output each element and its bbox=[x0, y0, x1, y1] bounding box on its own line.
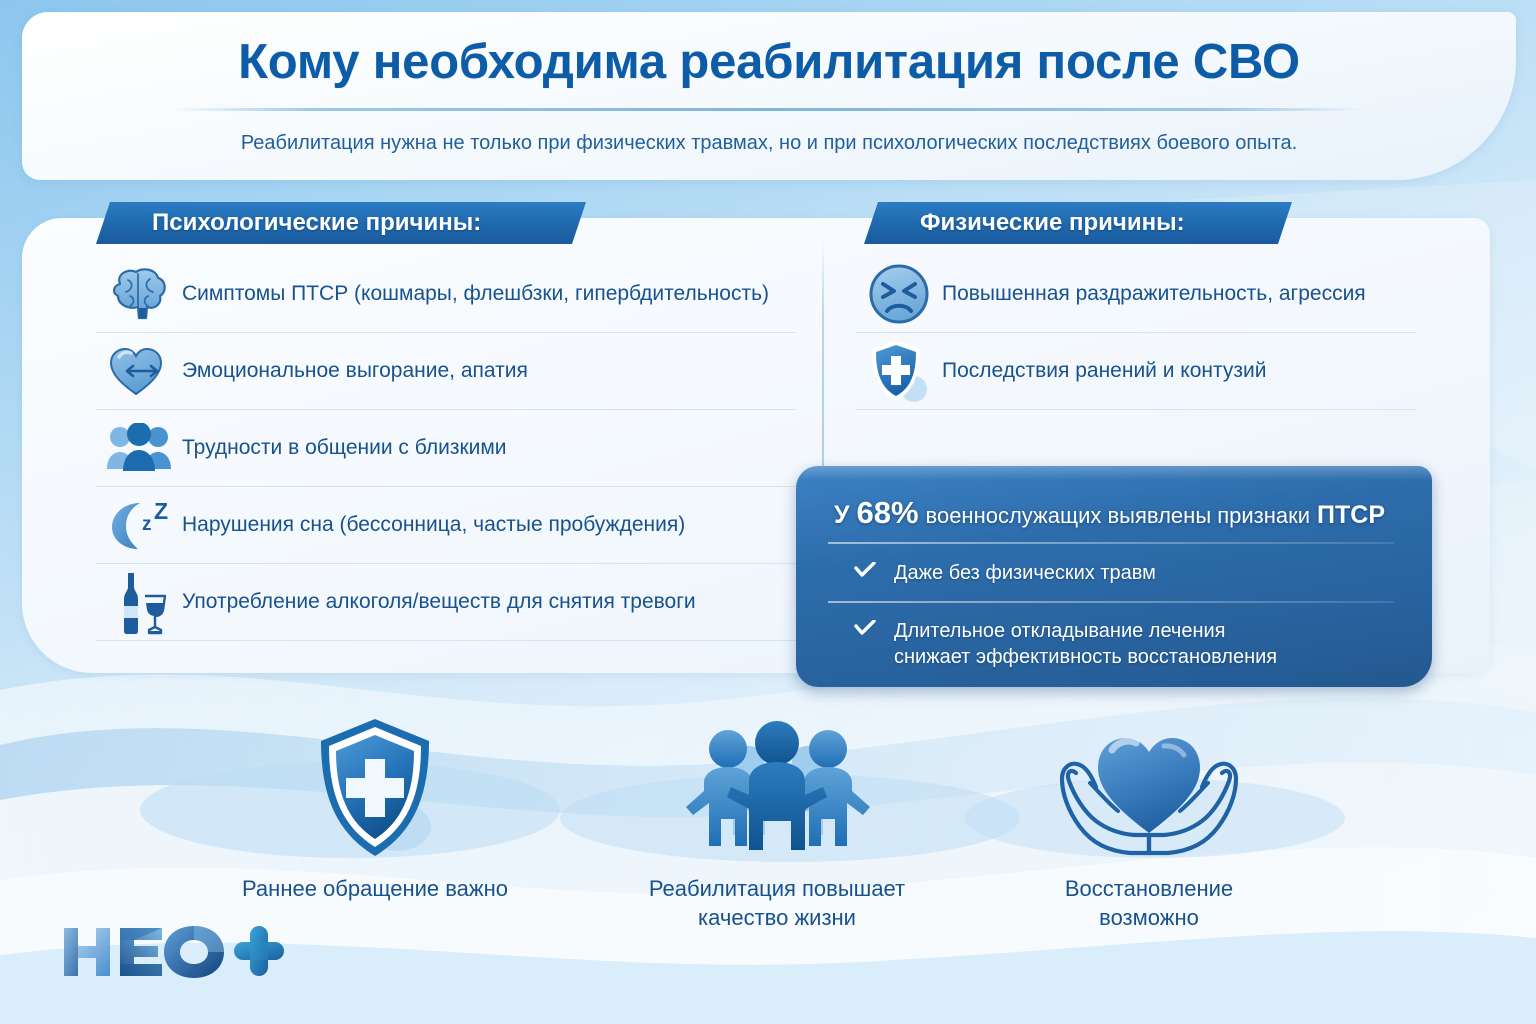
list-item-label: Трудности в общении с близкими bbox=[182, 436, 507, 460]
infographic-poster: Кому необходима реабилитация после СВО Р… bbox=[0, 0, 1536, 1024]
brain-icon bbox=[96, 266, 182, 322]
statistic-bullet-label: Даже без физических травм bbox=[894, 560, 1156, 586]
feature-block: Реабилитация повышает качество жизни bbox=[590, 715, 964, 933]
statistic-prefix: У bbox=[834, 501, 850, 529]
list-item: Последствия ранений и контузий bbox=[856, 333, 1416, 410]
list-item: Употребление алкоголя/веществ для снятия… bbox=[96, 564, 796, 641]
list-item: z Z Нарушения сна (бессонница, частые пр… bbox=[96, 487, 796, 564]
header-card: Кому необходима реабилитация после СВО Р… bbox=[22, 12, 1516, 180]
bottle-glass-icon bbox=[96, 569, 182, 635]
feature-caption: Раннее обращение важно bbox=[188, 874, 562, 903]
shield-cross-large-icon bbox=[188, 715, 562, 860]
list-item: Трудности в общении с близкими bbox=[96, 410, 796, 487]
list-item-label: Симптомы ПТСР (кошмары, флешбзки, гиперб… bbox=[182, 282, 769, 306]
statistic-bullet-label: Длительное откладывание лечения снижает … bbox=[894, 618, 1277, 671]
statistic-card: У 68% военнослужащих выявлены признаки П… bbox=[796, 466, 1432, 687]
section-banner-physical: Физические причины: bbox=[864, 202, 1292, 244]
hands-heart-icon bbox=[962, 715, 1336, 860]
list-item: Эмоциональное выгорание, апатия bbox=[96, 333, 796, 410]
statistic-divider-2 bbox=[828, 601, 1394, 603]
statistic-headline: У 68% военнослужащих выявлены признаки П… bbox=[834, 495, 1408, 531]
people-team-icon bbox=[590, 715, 964, 860]
moon-sleep-icon: z Z bbox=[96, 497, 182, 553]
statistic-divider-1 bbox=[828, 542, 1394, 544]
feature-caption: Реабилитация повышает качество жизни bbox=[590, 874, 964, 933]
list-item-label: Повышенная раздражительность, агрессия bbox=[942, 282, 1366, 306]
physical-causes-list: Повышенная раздражительность, агрессия П… bbox=[856, 256, 1416, 410]
feature-block: Восстановление возможно bbox=[962, 715, 1336, 933]
svg-text:Z: Z bbox=[154, 498, 168, 524]
people-group-icon bbox=[96, 423, 182, 473]
statistic-headline-tail: ПТСР bbox=[1317, 501, 1385, 529]
section-banner-physical-label: Физические причины: bbox=[864, 209, 1185, 237]
check-icon bbox=[854, 561, 876, 584]
statistic-percent: 68% bbox=[857, 495, 919, 530]
statistic-bullet: Даже без физических травм bbox=[854, 560, 1406, 586]
list-item-label: Нарушения сна (бессонница, частые пробуж… bbox=[182, 513, 685, 537]
list-item-label: Последствия ранений и контузий bbox=[942, 359, 1266, 383]
section-banner-psychological: Психологические причины: bbox=[96, 202, 586, 244]
list-item-label: Употребление алкоголя/веществ для снятия… bbox=[182, 590, 696, 614]
list-item: Симптомы ПТСР (кошмары, флешбзки, гиперб… bbox=[96, 256, 796, 333]
heart-burnout-icon bbox=[96, 344, 182, 398]
logo-neo-plus-icon bbox=[58, 920, 288, 982]
list-item-label: Эмоциональное выгорание, апатия bbox=[182, 359, 528, 383]
psychological-causes-list: Симптомы ПТСР (кошмары, флешбзки, гиперб… bbox=[96, 256, 796, 641]
svg-text:z: z bbox=[142, 514, 152, 535]
statistic-bullet: Длительное откладывание лечения снижает … bbox=[854, 618, 1406, 671]
shield-cross-icon bbox=[856, 337, 942, 405]
brand-logo bbox=[58, 920, 288, 982]
page-title: Кому необходима реабилитация после СВО bbox=[22, 34, 1516, 90]
title-divider bbox=[172, 108, 1366, 111]
feature-caption: Восстановление возможно bbox=[962, 874, 1336, 933]
statistic-headline-rest: военнослужащих выявлены признаки bbox=[926, 503, 1311, 528]
check-icon bbox=[854, 619, 876, 642]
list-item: Повышенная раздражительность, агрессия bbox=[856, 256, 1416, 333]
feature-block: Раннее обращение важно bbox=[188, 715, 562, 903]
section-banner-psychological-label: Психологические причины: bbox=[96, 209, 481, 237]
page-subtitle: Реабилитация нужна не только при физичес… bbox=[22, 132, 1516, 155]
angry-face-icon bbox=[856, 262, 942, 326]
